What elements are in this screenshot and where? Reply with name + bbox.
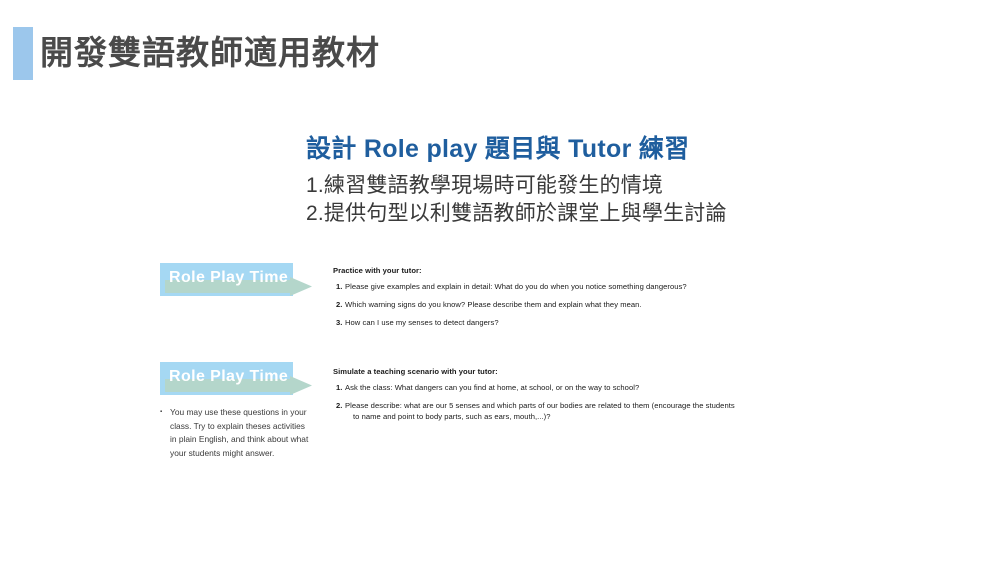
practice-heading: Practice with your tutor: <box>333 265 953 276</box>
role-play-time-banner: Role Play Time <box>160 360 312 396</box>
headline-list-item: 1.練習雙語教學現場時可能發生的情境 <box>306 172 966 200</box>
practice-item: 3. How can I use my senses to detect dan… <box>333 317 953 328</box>
practice-block: Simulate a teaching scenario with your t… <box>333 366 953 429</box>
note-text: You may use these questions in your clas… <box>170 406 310 460</box>
practice-item: 2. Please describe: what are our 5 sense… <box>333 400 953 422</box>
practice-heading: Simulate a teaching scenario with your t… <box>333 366 953 377</box>
role-play-time-banner: Role Play Time <box>160 261 312 297</box>
practice-block: Practice with your tutor: 1. Please give… <box>333 265 953 335</box>
title-accent-bar <box>13 27 33 80</box>
section-heading: 設計 Role play 題目與 Tutor 練習 <box>306 132 966 166</box>
note-box: ▪ You may use these questions in your cl… <box>160 406 310 460</box>
practice-item-text: Ask the class: What dangers can you find… <box>345 382 953 393</box>
practice-item-number: 3. <box>333 317 345 328</box>
banner-label: Role Play Time <box>169 366 288 388</box>
headline-block: 設計 Role play 題目與 Tutor 練習 1.練習雙語教學現場時可能發… <box>306 132 966 228</box>
practice-item-number: 2. <box>333 400 345 411</box>
practice-item: 1. Ask the class: What dangers can you f… <box>333 382 953 393</box>
practice-item-text-line: Please describe: what are our 5 senses a… <box>345 401 735 410</box>
practice-item-text: Please describe: what are our 5 senses a… <box>345 400 953 422</box>
practice-item-number: 1. <box>333 281 345 292</box>
practice-item: 2. Which warning signs do you know? Plea… <box>333 299 953 310</box>
practice-item-number: 1. <box>333 382 345 393</box>
note-list-item: ▪ You may use these questions in your cl… <box>160 406 310 460</box>
page-title: 開發雙語教師適用教材 <box>40 28 380 78</box>
practice-item-text: How can I use my senses to detect danger… <box>345 317 953 328</box>
practice-item-text-continuation: to name and point to body parts, such as… <box>345 411 953 422</box>
square-bullet-icon: ▪ <box>160 406 170 420</box>
practice-item-text: Please give examples and explain in deta… <box>345 281 953 292</box>
practice-item-number: 2. <box>333 299 345 310</box>
banner-label: Role Play Time <box>169 267 288 289</box>
practice-item: 1. Please give examples and explain in d… <box>333 281 953 292</box>
practice-item-text: Which warning signs do you know? Please … <box>345 299 953 310</box>
headline-list-item: 2.提供句型以利雙語教師於課堂上與學生討論 <box>306 200 966 228</box>
slide-title-row: 開發雙語教師適用教材 <box>0 0 1000 108</box>
